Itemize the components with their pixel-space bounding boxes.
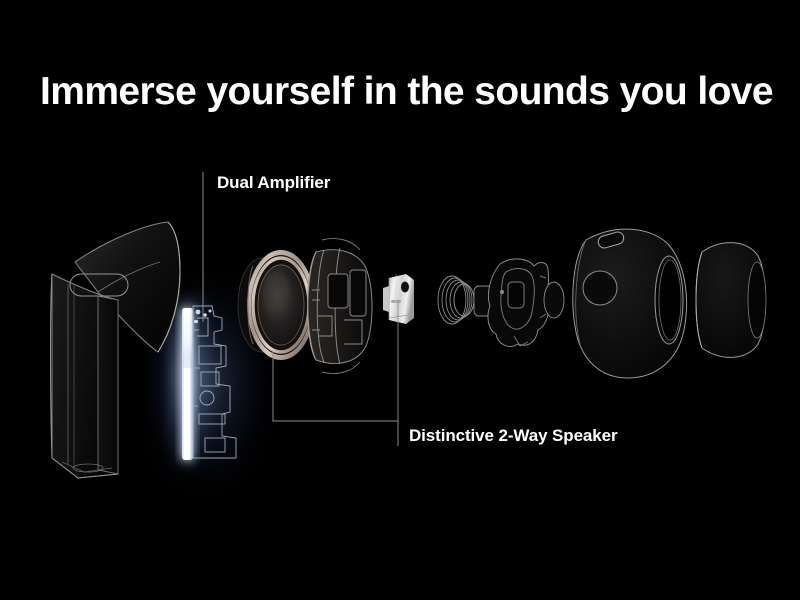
page-title: Immerse yourself in the sounds you love: [40, 68, 780, 116]
part-voice-coil-rings: [438, 276, 474, 324]
part-acoustic-mesh-plate: [488, 259, 549, 346]
callout-label-distinctive-2-way-speaker: Distinctive 2-Way Speaker: [409, 426, 618, 446]
part-small-gasket: [544, 282, 564, 318]
callout-label-dual-amplifier: Dual Amplifier: [217, 173, 330, 193]
part-outer-housing-shell: [573, 229, 687, 378]
product-hero-image: Immerse yourself in the sounds you love …: [0, 0, 800, 600]
part-driver-chassis: [308, 238, 372, 373]
part-ear-tip-cover: [696, 243, 766, 358]
part-speaker-driver-woofer: [238, 250, 315, 360]
part-earbud-stem-body: [51, 222, 181, 478]
part-dual-amplifier-board: [182, 306, 236, 460]
